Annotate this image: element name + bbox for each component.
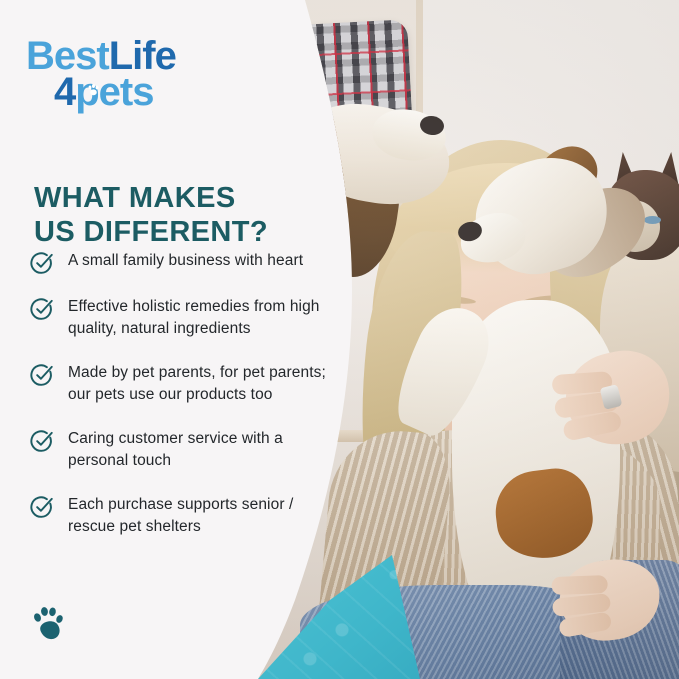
brand-logo-pets: pets bbox=[75, 70, 153, 114]
list-item: Effective holistic remedies from high qu… bbox=[30, 296, 330, 341]
brand-logo-line-1: BestLife bbox=[26, 38, 176, 74]
brand-logo-pets-text: pets bbox=[75, 70, 153, 114]
list-item: A small family business with heart bbox=[30, 250, 330, 275]
headline-line-1: WHAT MAKES bbox=[34, 182, 236, 214]
list-item-label: Caring customer service with a personal … bbox=[68, 428, 330, 473]
list-item: Made by pet parents, for pet parents; ou… bbox=[30, 362, 330, 407]
paw-icon bbox=[30, 604, 66, 642]
brand-logo-line-2: 4pets bbox=[54, 74, 176, 110]
list-item: Caring customer service with a personal … bbox=[30, 428, 330, 473]
list-item-label: A small family business with heart bbox=[68, 250, 330, 272]
check-circle-icon bbox=[30, 297, 54, 321]
check-circle-icon bbox=[30, 251, 54, 275]
brand-logo-four: 4 bbox=[54, 70, 75, 114]
promo-graphic: BestLife 4pets WHAT MAKES US DIFFERENT? … bbox=[0, 0, 679, 679]
check-circle-icon bbox=[30, 363, 54, 387]
list-item-label: Made by pet parents, for pet parents; ou… bbox=[68, 362, 330, 407]
page-title: WHAT MAKES US DIFFERENT? bbox=[34, 182, 314, 249]
list-item-label: Effective holistic remedies from high qu… bbox=[68, 296, 330, 341]
headline-line-2: US DIFFERENT? bbox=[34, 216, 314, 250]
list-item-label: Each purchase supports senior / rescue p… bbox=[68, 494, 330, 539]
benefits-list: A small family business with heart Effec… bbox=[30, 250, 330, 560]
list-item: Each purchase supports senior / rescue p… bbox=[30, 494, 330, 539]
check-circle-icon bbox=[30, 429, 54, 453]
check-circle-icon bbox=[30, 495, 54, 519]
brand-logo[interactable]: BestLife 4pets bbox=[26, 38, 176, 110]
content-column: BestLife 4pets WHAT MAKES US DIFFERENT? … bbox=[0, 0, 330, 679]
